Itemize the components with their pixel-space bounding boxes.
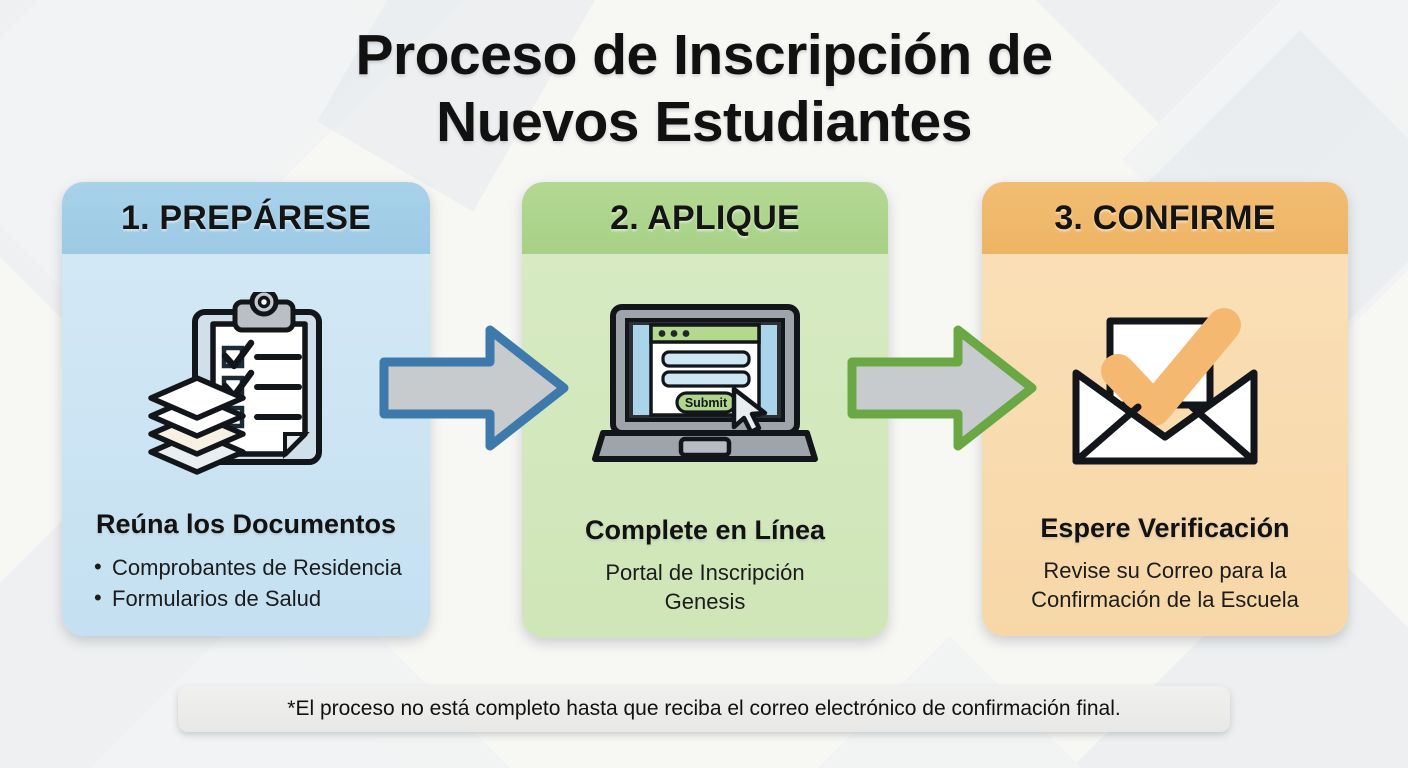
step-2-text-area: Complete en Línea Portal de Inscripción … [522, 515, 888, 638]
laptop-online-form-icon: Submit [589, 301, 821, 473]
steps-container: 1. PREPÁRESE [0, 182, 1408, 642]
step-3-title: Espere Verificación [998, 513, 1332, 544]
step-1-bullet-item: Comprobantes de Residencia [92, 552, 414, 583]
page-title-line-2: Nuevos Estudiantes [0, 89, 1408, 156]
step-3-subtitle-line-1: Revise su Correo para la [998, 556, 1332, 585]
step-1-icon-area [62, 254, 430, 509]
step-2-header: 2. APLIQUE [522, 182, 888, 254]
step-3-subtitle-line-2: Confirmación de la Escuela [998, 585, 1332, 614]
step-2-icon-area: Submit [522, 254, 888, 515]
arrow-step2-to-step3 [846, 318, 1038, 463]
page-title: Proceso de Inscripción de Nuevos Estudia… [0, 22, 1408, 155]
arrow-step1-to-step2 [378, 318, 570, 463]
step-3-header-label: 3. CONFIRME [1054, 199, 1275, 238]
step-1-body: Reúna los Documentos Comprobantes de Res… [62, 254, 430, 636]
step-1-header-label: 1. PREPÁRESE [121, 199, 371, 238]
step-3-header: 3. CONFIRME [982, 182, 1348, 254]
step-2-title: Complete en Línea [538, 515, 872, 546]
step-1-text-area: Reúna los Documentos Comprobantes de Res… [62, 509, 430, 636]
step-2-header-label: 2. APLIQUE [610, 199, 800, 238]
envelope-checkmark-icon [1058, 297, 1272, 475]
step-2-subtitle-line-2: Genesis [538, 587, 872, 616]
step-1-bullet-item: Formularios de Salud [92, 583, 414, 614]
clipboard-documents-icon [139, 292, 354, 477]
step-3-text-area: Espere Verificación Revise su Correo par… [982, 513, 1348, 636]
submit-button-label: Submit [685, 396, 728, 410]
step-2-subtitle-line-1: Portal de Inscripción [538, 558, 872, 587]
step-1-header: 1. PREPÁRESE [62, 182, 430, 254]
page-title-line-1: Proceso de Inscripción de [0, 22, 1408, 89]
step-card-1-preparese[interactable]: 1. PREPÁRESE [62, 182, 430, 636]
step-card-2-aplique[interactable]: 2. APLIQUE [522, 182, 888, 638]
footnote-banner: *El proceso no está completo hasta que r… [178, 686, 1230, 732]
step-1-bullet-list: Comprobantes de Residencia Formularios d… [78, 552, 414, 614]
footnote-text: *El proceso no está completo hasta que r… [287, 697, 1120, 721]
step-2-body: Submit Complete en Línea Portal de Inscr… [522, 254, 888, 638]
step-1-title: Reúna los Documentos [78, 509, 414, 540]
